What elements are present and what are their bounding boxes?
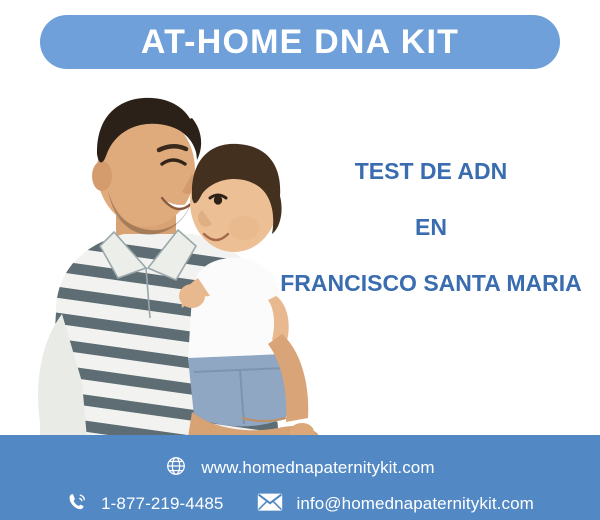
- headline-line-location: FRANCISCO SANTA MARIA: [262, 272, 600, 295]
- footer-website-row: www.homednapaternitykit.com: [0, 451, 600, 485]
- headline-line-test: TEST DE ADN: [262, 160, 600, 183]
- dna-kit-promo-card: AT-HOME DNA KIT: [0, 0, 600, 520]
- footer-contact-band: www.homednapaternitykit.com 1-877-219-44…: [0, 435, 600, 520]
- footer-contact-row: 1-877-219-4485 info@homednapaternitykit.…: [0, 487, 600, 520]
- website-url[interactable]: www.homednapaternitykit.com: [201, 458, 434, 478]
- phone-number[interactable]: 1-877-219-4485: [101, 494, 223, 514]
- envelope-icon: [257, 492, 283, 517]
- phone-icon: [66, 491, 88, 518]
- page-title: AT-HOME DNA KIT: [141, 25, 459, 59]
- globe-icon: [165, 455, 187, 482]
- header-banner: AT-HOME DNA KIT: [40, 15, 560, 69]
- email-contact[interactable]: info@homednapaternitykit.com: [257, 492, 533, 517]
- headline-block: TEST DE ADN EN FRANCISCO SANTA MARIA: [262, 160, 600, 295]
- email-address[interactable]: info@homednapaternitykit.com: [296, 494, 533, 514]
- phone-contact[interactable]: 1-877-219-4485: [66, 491, 223, 518]
- headline-line-en: EN: [262, 216, 600, 239]
